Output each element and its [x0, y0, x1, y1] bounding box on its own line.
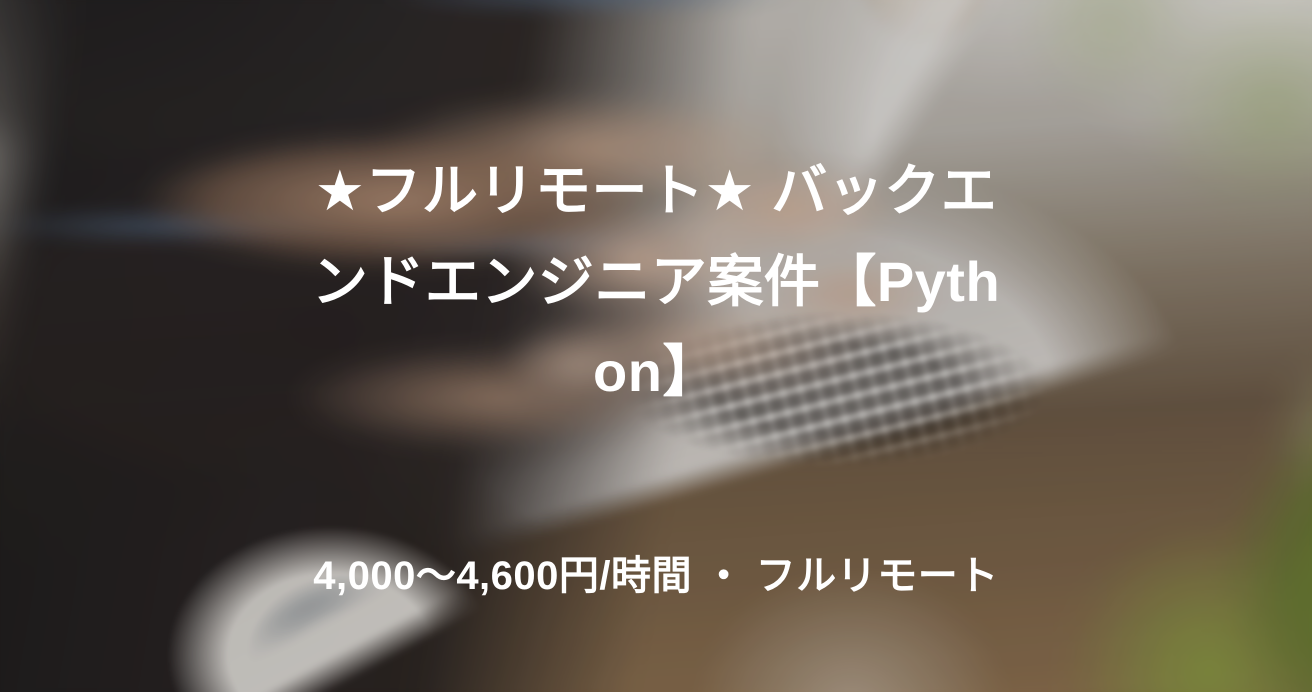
job-posting-hero-banner: ★フルリモート★ バックエンドエンジニア案件【Python】 4,000〜4,6… — [0, 0, 1312, 692]
hero-subtitle: 4,000〜4,600円/時間 ・ フルリモート — [0, 552, 1312, 600]
hero-text-overlay: ★フルリモート★ バックエンドエンジニア案件【Python】 4,000〜4,6… — [0, 0, 1312, 692]
hero-title: ★フルリモート★ バックエンドエンジニア案件【Python】 — [146, 146, 1166, 418]
